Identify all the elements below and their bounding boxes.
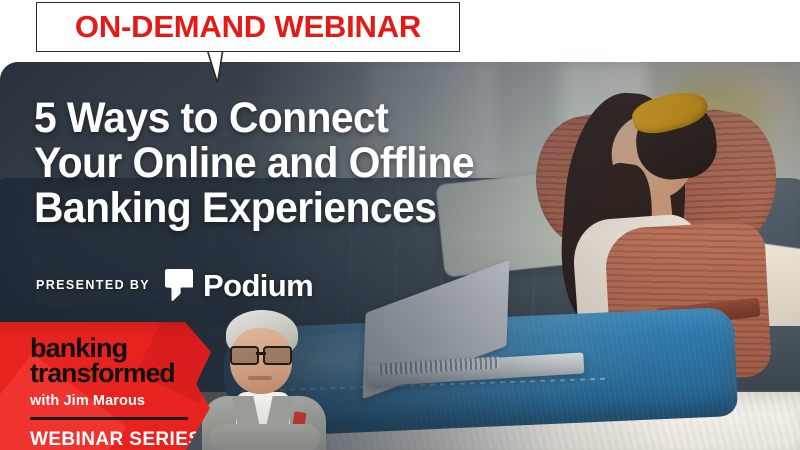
badge-box: ON-DEMAND WEBINAR — [36, 2, 460, 52]
host-glasses-icon — [230, 346, 292, 361]
webinar-promo-banner: 5 Ways to Connect Your Online and Offlin… — [0, 0, 800, 450]
series-title-line2: transformed — [30, 361, 205, 386]
series-branding: banking transformed with Jim Marous WEBI… — [30, 336, 205, 450]
series-footer-label: WEBINAR SERIES — [30, 429, 205, 450]
host-portrait — [196, 300, 332, 450]
podium-wordmark: Podium — [203, 270, 313, 301]
host-glasses-lens-right — [263, 346, 292, 365]
badge-tail-pointer — [166, 49, 236, 85]
host-glasses-lens-left — [230, 346, 259, 365]
page-title: 5 Ways to Connect Your Online and Offlin… — [34, 96, 566, 231]
series-host: with Jim Marous — [30, 393, 205, 409]
webinar-series-panel: banking transformed with Jim Marous WEBI… — [0, 322, 212, 450]
podium-speech-bubble-icon — [164, 268, 194, 302]
presented-by-row: PRESENTED BY Podium — [36, 268, 313, 302]
series-divider — [30, 417, 188, 420]
presented-by-label: PRESENTED BY — [36, 278, 150, 292]
host-folded-arms — [210, 424, 320, 450]
host-mouth — [248, 376, 272, 380]
on-demand-badge: ON-DEMAND WEBINAR — [36, 2, 460, 80]
badge-label: ON-DEMAND WEBINAR — [75, 9, 421, 45]
podium-logo[interactable]: Podium — [164, 268, 313, 302]
